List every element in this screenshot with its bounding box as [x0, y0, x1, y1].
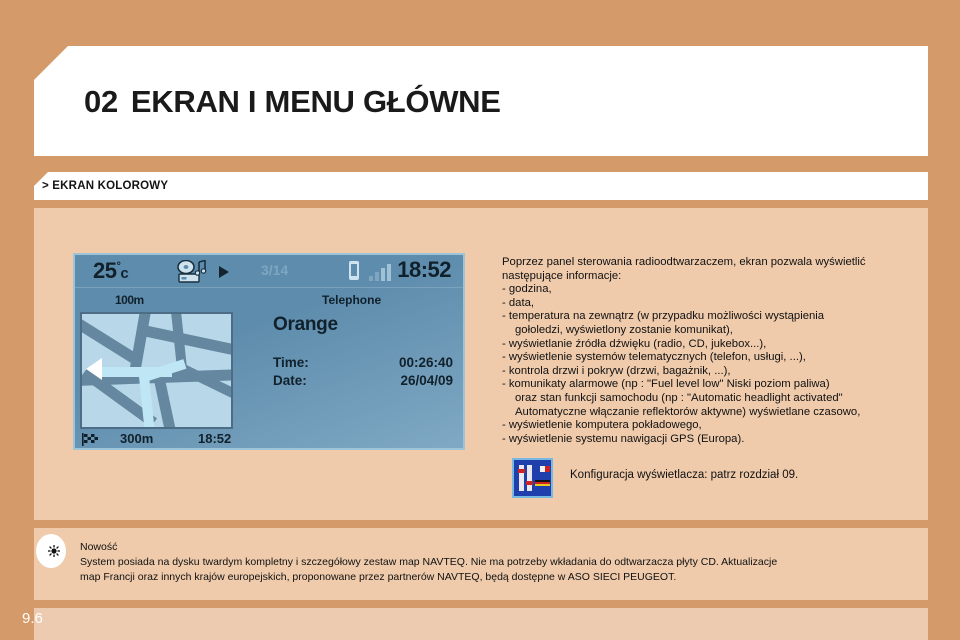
info-list-item: - wyświetlenie komputera pokładowego,	[502, 419, 926, 433]
map-view	[80, 312, 233, 429]
info-intro-line-1: Poprzez panel sterowania radioodtwarzacz…	[502, 256, 926, 270]
telephone-label: Telephone	[322, 293, 381, 307]
time-row: Time: 00:26:40	[273, 355, 453, 373]
outside-temperature: 25°c	[93, 258, 128, 284]
note-line-2: map Francji oraz innych krajów europejsk…	[80, 570, 920, 585]
info-list-item-continuation: gołoledzi, wyświetlony zostanie komunika…	[502, 324, 926, 338]
info-list-item: - godzina,	[502, 283, 926, 297]
page-number: 9.6	[22, 610, 43, 627]
track-number: 3/14	[261, 262, 288, 278]
note-line-1: System posiada na dysku twardym kompletn…	[80, 555, 920, 570]
manual-page: 02EKRAN I MENU GŁÓWNE > EKRAN KOLOROWY 2…	[0, 0, 960, 640]
info-text-column: Poprzez panel sterowania radioodtwarzacz…	[502, 256, 926, 446]
info-list-item: - kontrola drzwi i pokryw (drzwi, bagażn…	[502, 365, 926, 379]
date-row: Date: 26/04/09	[273, 373, 453, 391]
info-bullet-list: - godzina,- data,- temperatura na zewnąt…	[502, 283, 926, 446]
play-triangle-icon	[219, 266, 229, 278]
time-label: Time:	[273, 355, 309, 370]
signal-bars-icon	[369, 262, 395, 281]
remaining-distance: 300m	[120, 431, 153, 446]
navigation-screen-illustration: 25°c 3/14 18:52 100m Telephone	[73, 253, 465, 450]
info-list-item: - temperatura na zewnątrz (w przypadku m…	[502, 310, 926, 324]
page-title: 02EKRAN I MENU GŁÓWNE	[84, 84, 501, 120]
info-list-item: - wyświetlanie źródła dźwięku (radio, CD…	[502, 338, 926, 352]
date-value: 26/04/09	[400, 373, 453, 388]
call-info-block: Time: 00:26:40 Date: 26/04/09	[273, 355, 453, 391]
info-list-item: - data,	[502, 297, 926, 311]
bottom-note-text: Nowość System posiada na dysku twardym k…	[80, 540, 920, 585]
checkered-flag-icon	[82, 433, 99, 446]
info-intro-line-2: następujące informacje:	[502, 270, 926, 284]
info-list-item: - wyświetlenie systemów telematycznych (…	[502, 351, 926, 365]
info-list-item: - wyświetlenie systemu nawigacji GPS (Eu…	[502, 433, 926, 447]
note-title: Nowość	[80, 540, 920, 555]
starburst-icon	[48, 545, 60, 557]
arrival-time: 18:52	[198, 431, 231, 446]
info-list-item: - komunikaty alarmowe (np : "Fuel level …	[502, 378, 926, 392]
chapter-title-text: EKRAN I MENU GŁÓWNE	[131, 84, 501, 119]
info-list-item-continuation: Automatyczne włączanie reflektorów aktyw…	[502, 406, 926, 420]
display-settings-icon	[512, 458, 553, 498]
config-note-text: Konfiguracja wyświetlacza: patrz rozdzia…	[570, 469, 798, 481]
section-subtitle-text: > EKRAN KOLOROWY	[42, 180, 168, 192]
time-value: 00:26:40	[399, 355, 453, 370]
route-summary-bar: 300m 18:52	[80, 431, 460, 451]
date-label: Date:	[273, 373, 307, 388]
screen-status-bar: 25°c 3/14 18:52	[75, 255, 463, 288]
screen-clock: 18:52	[397, 257, 451, 283]
jukebox-music-icon	[175, 260, 209, 283]
left-arrow-icon	[86, 358, 102, 380]
footer-strip	[34, 608, 928, 640]
info-list-item-continuation: oraz stan funkcji samochodu (np : "Autom…	[502, 392, 926, 406]
chapter-number: 02	[84, 84, 118, 119]
map-scale: 100m	[115, 288, 144, 310]
station-name: Orange	[273, 314, 338, 336]
mobile-phone-icon	[349, 261, 359, 280]
